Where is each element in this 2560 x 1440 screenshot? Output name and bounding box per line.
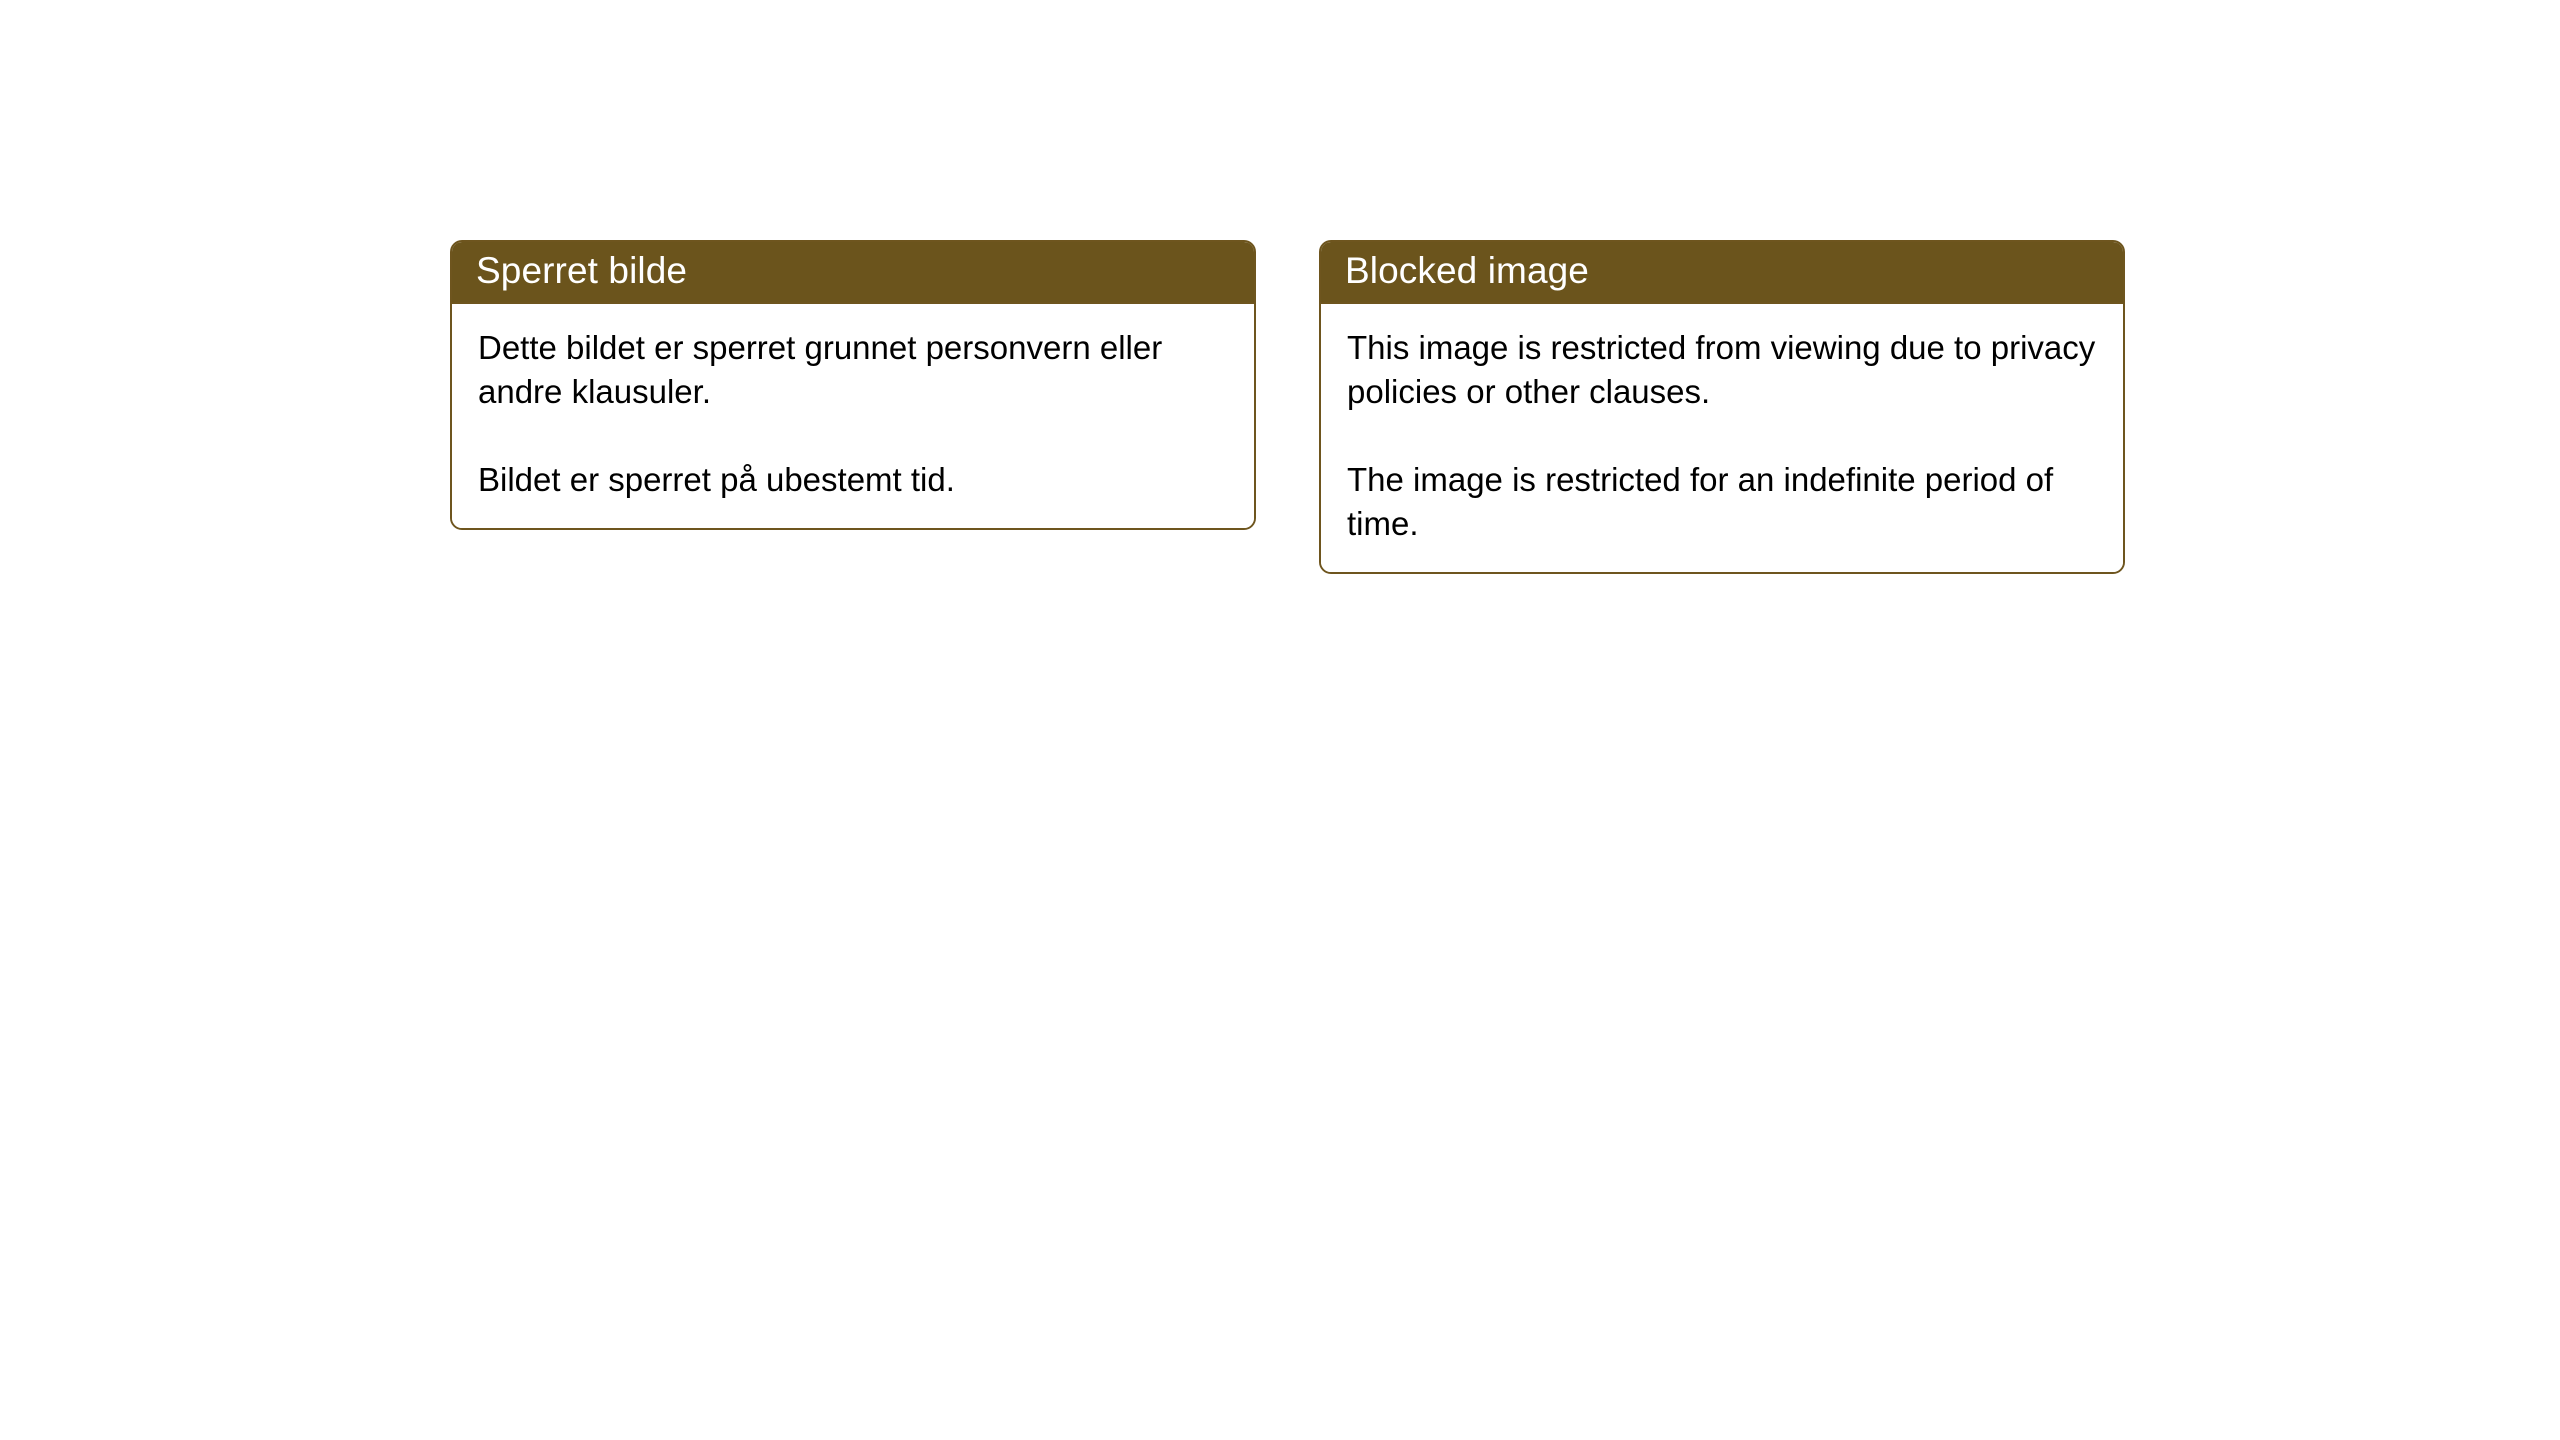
card-paragraph-primary-en: This image is restricted from viewing du…: [1347, 326, 2099, 414]
card-paragraph-primary-no: Dette bildet er sperret grunnet personve…: [478, 326, 1230, 414]
card-title-no: Sperret bilde: [476, 252, 687, 293]
card-body-en: This image is restricted from viewing du…: [1321, 304, 2123, 572]
blocked-image-card-group: Sperret bilde Dette bildet er sperret gr…: [450, 240, 2125, 574]
card-body-no: Dette bildet er sperret grunnet personve…: [452, 304, 1254, 528]
card-title-en: Blocked image: [1345, 252, 1589, 293]
card-paragraph-secondary-no: Bildet er sperret på ubestemt tid.: [478, 458, 1230, 502]
card-header-no: Sperret bilde: [452, 242, 1254, 304]
card-header-en: Blocked image: [1321, 242, 2123, 304]
card-paragraph-secondary-en: The image is restricted for an indefinit…: [1347, 458, 2099, 546]
page-root: Sperret bilde Dette bildet er sperret gr…: [0, 0, 2560, 1440]
blocked-image-card-en: Blocked image This image is restricted f…: [1319, 240, 2125, 574]
blocked-image-card-no: Sperret bilde Dette bildet er sperret gr…: [450, 240, 1256, 530]
